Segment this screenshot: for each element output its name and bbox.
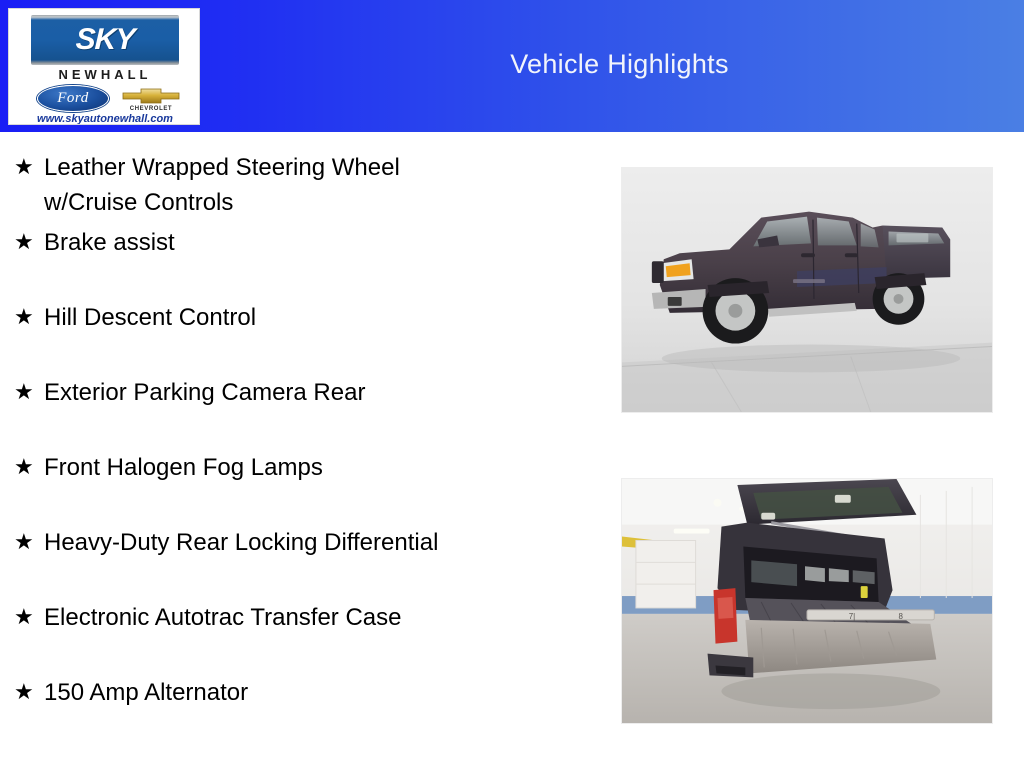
- vehicle-highlights-list: ★ Leather Wrapped Steering Wheel w/Cruis…: [0, 150, 600, 750]
- sky-brand-plate: SKY: [31, 15, 179, 65]
- dealer-logo[interactable]: SKY NEWHALL Ford CHEVROLET www.skyautone…: [8, 8, 200, 125]
- feature-label: Leather Wrapped Steering Wheel w/Cruise …: [44, 154, 400, 216]
- ford-logo-icon: Ford: [37, 85, 109, 112]
- chevrolet-bowtie-icon: [121, 87, 181, 105]
- feature-label: Electronic Autotrac Transfer Case: [44, 604, 402, 631]
- list-item: ★ Front Halogen Fog Lamps: [0, 450, 600, 525]
- vehicle-cargo-illustration: 7| 8: [622, 479, 992, 723]
- list-item: ★ Hill Descent Control: [0, 300, 600, 375]
- list-item: ★ Electronic Autotrac Transfer Case: [0, 600, 600, 675]
- dealer-location-text: NEWHALL: [9, 67, 200, 82]
- list-item: ★ Heavy-Duty Rear Locking Differential: [0, 525, 600, 600]
- star-bullet-icon: ★: [14, 527, 34, 557]
- list-item: ★ Exterior Parking Camera Rear: [0, 375, 600, 450]
- feature-label: Front Halogen Fog Lamps: [44, 454, 323, 481]
- feature-label: Hill Descent Control: [44, 304, 256, 331]
- dealer-website-url[interactable]: www.skyautonewhall.com: [9, 113, 200, 125]
- star-bullet-icon: ★: [14, 302, 34, 332]
- star-bullet-icon: ★: [14, 152, 34, 182]
- star-bullet-icon: ★: [14, 602, 34, 632]
- feature-label: 150 Amp Alternator: [44, 679, 248, 706]
- vehicle-highlights-slide: Vehicle Highlights SKY NEWHALL Ford CHEV…: [0, 0, 1024, 768]
- chevrolet-logo-text: CHEVROLET: [121, 106, 181, 112]
- star-bullet-icon: ★: [14, 452, 34, 482]
- star-bullet-icon: ★: [14, 677, 34, 707]
- feature-label: Brake assist: [44, 229, 175, 256]
- feature-label: Exterior Parking Camera Rear: [44, 379, 365, 406]
- list-item: ★ 150 Amp Alternator: [0, 675, 600, 750]
- feature-label: Heavy-Duty Rear Locking Differential: [44, 529, 438, 556]
- star-bullet-icon: ★: [14, 227, 34, 257]
- star-bullet-icon: ★: [14, 377, 34, 407]
- vehicle-exterior-illustration: [622, 168, 992, 412]
- svg-text:7|: 7|: [849, 612, 855, 621]
- list-item: ★ Brake assist: [0, 225, 600, 300]
- vehicle-photo-cargo-bed[interactable]: 7| 8: [621, 478, 993, 724]
- svg-text:8: 8: [899, 612, 904, 621]
- ford-logo-text: Ford: [38, 86, 108, 111]
- vehicle-photo-exterior[interactable]: [621, 167, 993, 413]
- sky-brand-text: SKY: [30, 15, 180, 65]
- list-item: ★ Leather Wrapped Steering Wheel w/Cruis…: [0, 150, 600, 225]
